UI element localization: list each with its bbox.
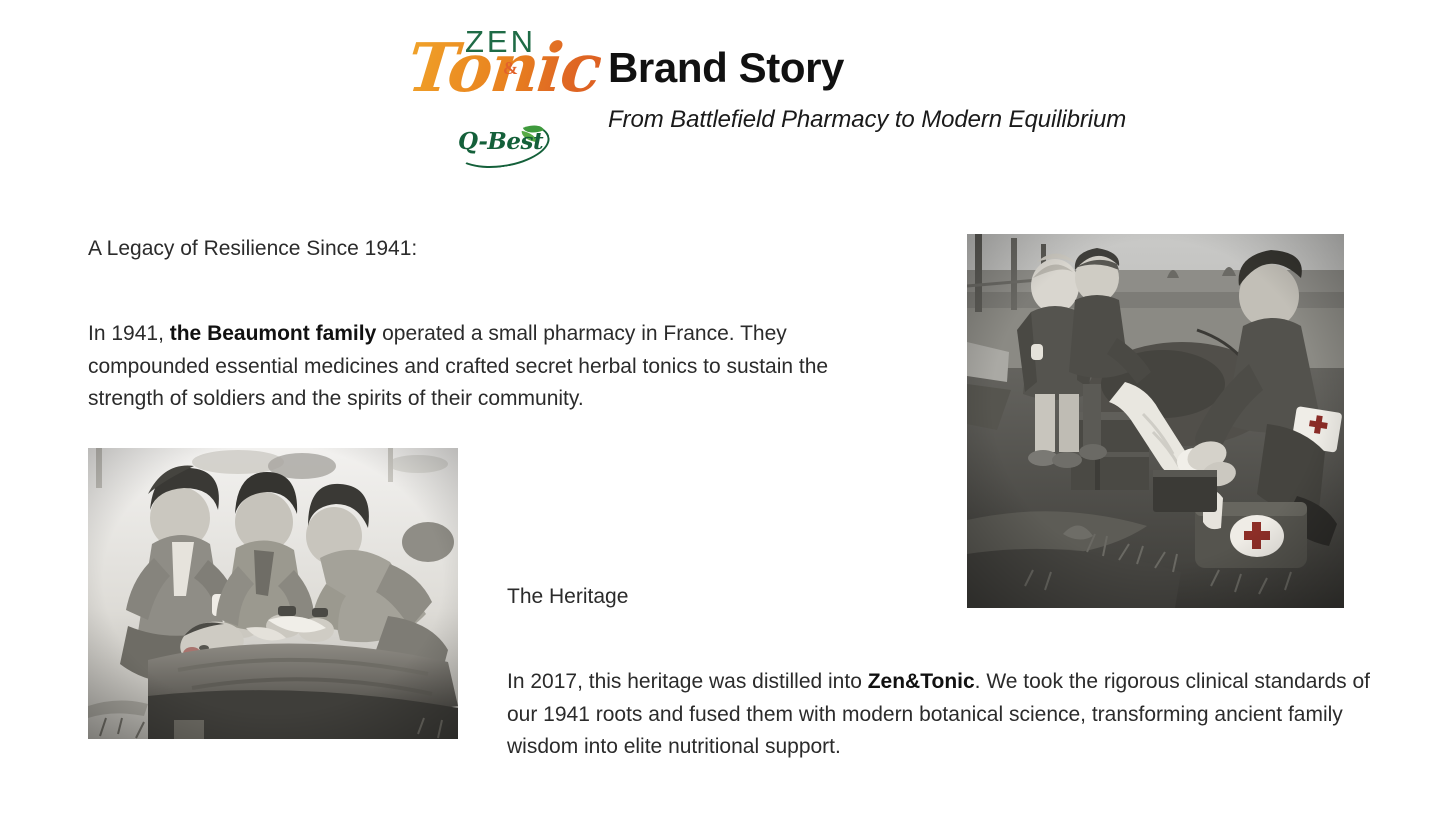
page-subtitle: From Battlefield Pharmacy to Modern Equi… — [608, 106, 1348, 135]
page-title: Brand Story — [608, 44, 1348, 92]
logo-zen-text: ZEN — [465, 26, 536, 57]
heritage-text-before: In 2017, this heritage was distilled int… — [507, 670, 868, 693]
header-text-group: Brand Story From Battlefield Pharmacy to… — [608, 44, 1348, 135]
zen-tonic-wordmark: Tonic ZEN & — [406, 18, 586, 118]
photo-nurses-with-patient — [88, 448, 458, 739]
heritage-paragraph: In 2017, this heritage was distilled int… — [507, 666, 1397, 764]
brand-story-slide: Tonic ZEN & Q-Best Brand Story From Batt… — [0, 0, 1445, 813]
q-best-logo: Q-Best — [458, 122, 554, 166]
heritage-heading: The Heritage — [507, 582, 1007, 612]
origin-text-bold: the Beaumont family — [170, 322, 377, 345]
photo-medic-and-children — [967, 234, 1344, 608]
q-best-label: Q-Best — [458, 130, 543, 153]
logo-ampersand-icon: & — [503, 59, 518, 77]
origin-paragraph: In 1941, the Beaumont family operated a … — [88, 318, 900, 416]
photo-nurses-with-patient-graphic — [88, 448, 458, 739]
brand-logo: Tonic ZEN & Q-Best — [406, 18, 586, 168]
heritage-text-bold: Zen&Tonic — [868, 670, 975, 693]
legacy-lead-line: A Legacy of Resilience Since 1941: — [88, 234, 888, 264]
photo-medic-and-children-graphic — [967, 234, 1344, 608]
origin-text-before: In 1941, — [88, 322, 170, 345]
